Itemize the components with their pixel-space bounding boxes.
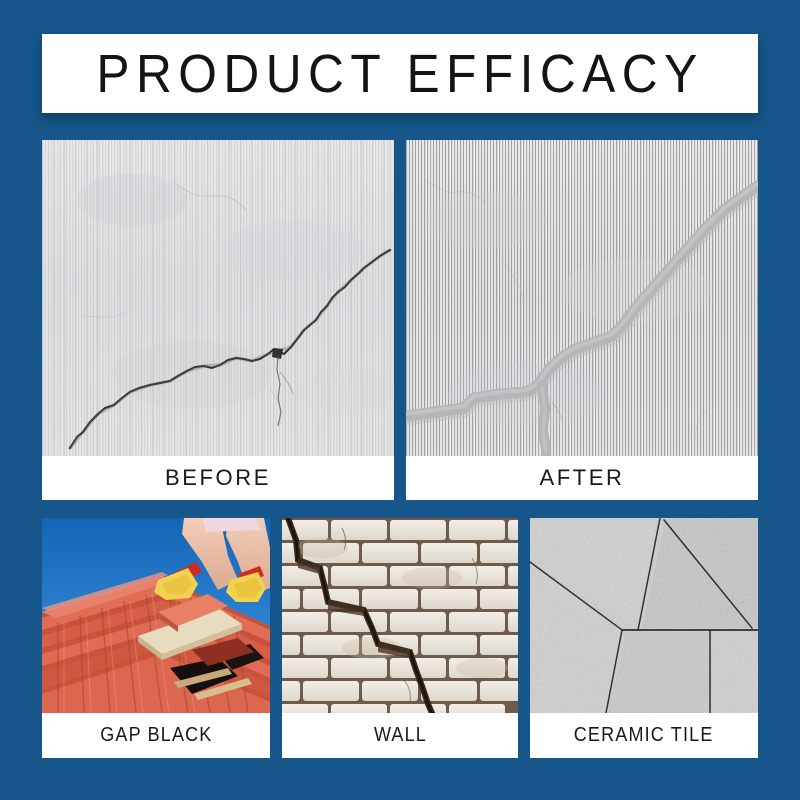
- title-banner: PRODUCT EFFICACY: [42, 34, 758, 113]
- roof-tile-image: [42, 518, 270, 713]
- application-card-wall: WALL: [282, 518, 518, 758]
- brick-wall-image: [282, 518, 518, 713]
- application-label-ceramic-tile: CERAMIC TILE: [574, 724, 714, 747]
- application-card-roof: GAP BLACK: [42, 518, 270, 758]
- after-card: AFTER: [406, 140, 758, 500]
- roof-tile-worker-illustration: [42, 518, 270, 713]
- repaired-concrete-after-illustration: [406, 140, 758, 456]
- before-label-band: BEFORE: [42, 456, 394, 500]
- application-label-roof: GAP BLACK: [100, 724, 212, 747]
- ceramic-tile-label-band: CERAMIC TILE: [530, 713, 758, 758]
- wall-label-band: WALL: [282, 713, 518, 758]
- before-image: [42, 140, 394, 456]
- product-efficacy-poster: PRODUCT EFFICACY: [0, 0, 800, 800]
- ceramic-tile-image: [530, 518, 758, 713]
- after-label-band: AFTER: [406, 456, 758, 500]
- cracked-ceramic-tile-illustration: [530, 518, 758, 713]
- roof-label-band: GAP BLACK: [42, 713, 270, 758]
- cracked-concrete-before-illustration: [42, 140, 394, 456]
- after-label: AFTER: [539, 465, 624, 491]
- page-title: PRODUCT EFFICACY: [96, 43, 703, 105]
- before-label: BEFORE: [165, 465, 271, 491]
- before-card: BEFORE: [42, 140, 394, 500]
- cracked-brick-wall-illustration: [282, 518, 518, 713]
- application-card-ceramic-tile: CERAMIC TILE: [530, 518, 758, 758]
- application-label-wall: WALL: [373, 724, 426, 747]
- after-image: [406, 140, 758, 456]
